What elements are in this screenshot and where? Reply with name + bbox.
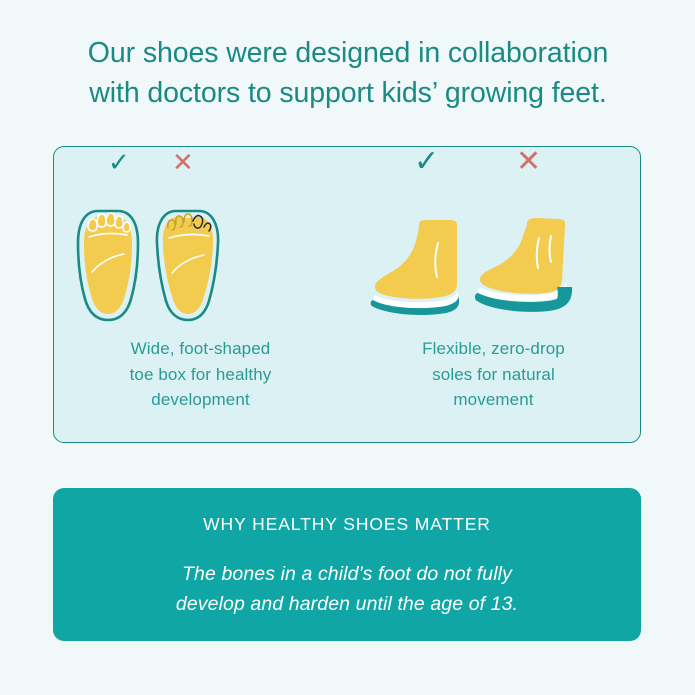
- heeled-boot-body: [480, 218, 565, 294]
- check-icon: ✓: [108, 147, 130, 177]
- toe-1: [88, 219, 97, 231]
- mark-row-soles: ✓ ✕: [347, 147, 640, 181]
- headline-line-1: Our shoes were designed in collaboration: [54, 33, 642, 73]
- infographic-page: Our shoes were designed in collaboration…: [0, 0, 695, 695]
- footprints-illustration: [54, 181, 347, 323]
- toe-2: [97, 214, 106, 227]
- caption-line-1: Wide, foot-shaped: [86, 336, 316, 362]
- boots-svg: [361, 183, 611, 325]
- caption-line-2: soles for natural: [379, 362, 609, 388]
- check-icon: ✓: [414, 147, 439, 177]
- flat-boot-body: [375, 220, 457, 299]
- toe-4: [115, 216, 123, 228]
- caption-soles: Flexible, zero-drop soles for natural mo…: [379, 336, 609, 413]
- feature-column-soles: ✓ ✕: [347, 147, 640, 442]
- caption-toe-box: Wide, foot-shaped toe box for healthy de…: [86, 336, 316, 413]
- banner-body-line-1: The bones in a child’s foot do not fully: [53, 560, 641, 590]
- cross-icon: ✕: [516, 147, 541, 177]
- narrow-footprint-fill: [163, 217, 213, 314]
- toe-5: [123, 222, 130, 232]
- banner-title: WHY HEALTHY SHOES MATTER: [53, 514, 641, 535]
- why-healthy-shoes-banner: WHY HEALTHY SHOES MATTER The bones in a …: [53, 488, 641, 641]
- footprints-svg: [68, 181, 308, 323]
- banner-body: The bones in a child’s foot do not fully…: [53, 560, 641, 620]
- headline-line-2: with doctors to support kids’ growing fe…: [54, 73, 642, 113]
- caption-line-1: Flexible, zero-drop: [379, 336, 609, 362]
- caption-line-2: toe box for healthy: [86, 362, 316, 388]
- caption-line-3: development: [86, 387, 316, 413]
- toe-3: [106, 213, 115, 226]
- page-title: Our shoes were designed in collaboration…: [54, 33, 642, 114]
- cross-icon: ✕: [172, 147, 194, 177]
- caption-line-3: movement: [379, 387, 609, 413]
- boots-illustration: [347, 181, 640, 323]
- feature-column-toe-box: ✓ ✕: [54, 147, 347, 442]
- mark-row-toe-box: ✓ ✕: [54, 147, 347, 181]
- feature-card: ✓ ✕: [53, 146, 641, 443]
- banner-body-line-2: develop and harden until the age of 13.: [53, 590, 641, 620]
